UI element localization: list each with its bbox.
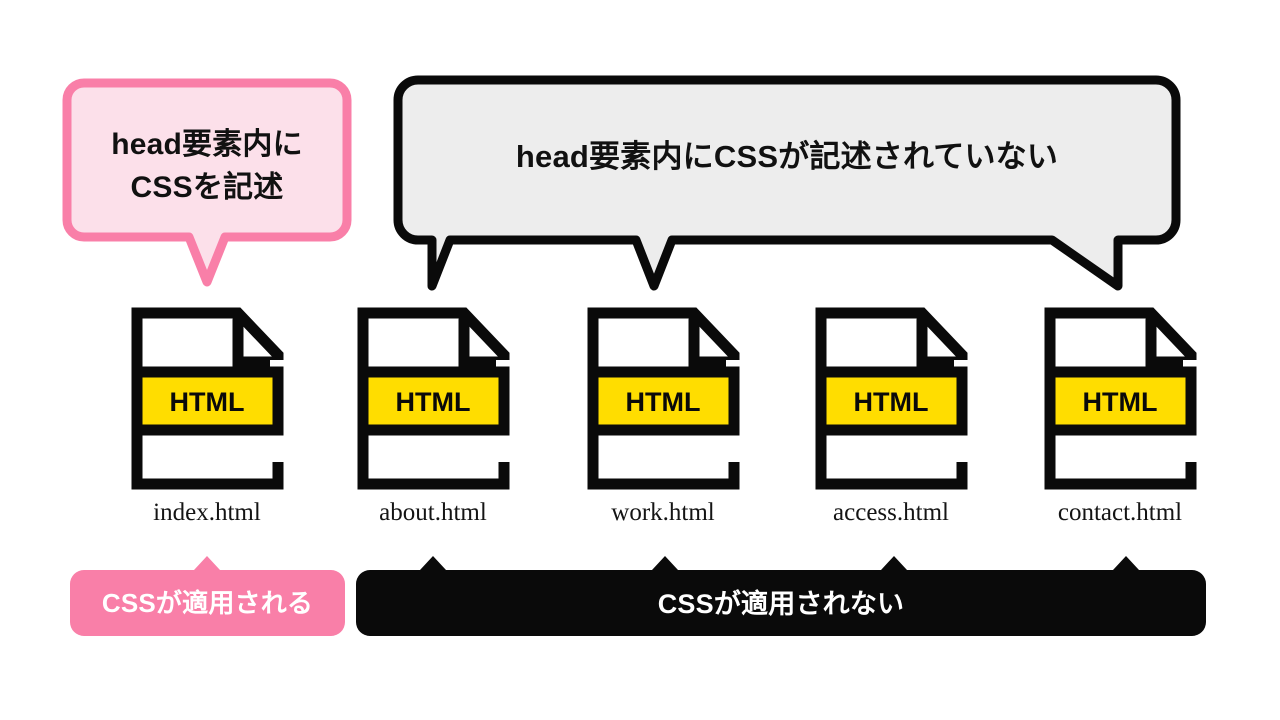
banner-css-not-applied-shape [356,556,1206,636]
file-label: about.html [333,499,533,527]
html-badge-text: HTML [395,387,470,417]
callout-bubble-gray [392,74,1182,292]
file-label: work.html [563,499,763,527]
file-label: index.html [107,499,307,527]
diagram-canvas: head要素内に CSSを記述 head要素内にCSSが記述されていない HTM… [0,0,1280,720]
callout-bubble-pink-shape [62,78,352,293]
banner-css-applied [70,556,345,636]
file-item-contact[interactable]: HTML contact.html [1020,306,1220,527]
file-item-access[interactable]: HTML access.html [791,306,991,527]
file-label: access.html [791,499,991,527]
file-item-index[interactable]: HTML index.html [107,306,307,527]
file-item-about[interactable]: HTML about.html [333,306,533,527]
html-badge-text: HTML [853,387,928,417]
html-file-icon: HTML [130,306,285,491]
html-badge-text: HTML [625,387,700,417]
callout-bubble-pink [62,78,352,293]
html-badge-text: HTML [169,387,244,417]
html-file-icon: HTML [1043,306,1198,491]
banner-css-applied-shape [70,556,345,636]
file-label: contact.html [1020,499,1220,527]
callout-bubble-gray-shape [392,74,1182,292]
html-file-icon: HTML [814,306,969,491]
banner-css-not-applied [356,556,1206,636]
html-file-icon: HTML [586,306,741,491]
html-badge-text: HTML [1082,387,1157,417]
file-item-work[interactable]: HTML work.html [563,306,763,527]
html-file-icon: HTML [356,306,511,491]
